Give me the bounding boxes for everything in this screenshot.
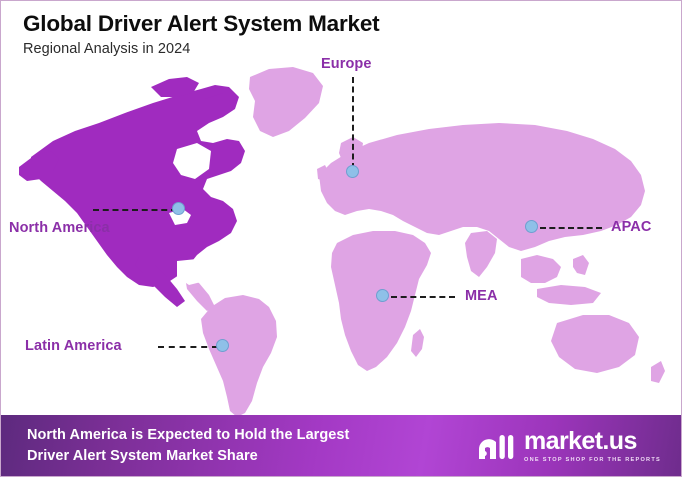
marker-mea [376,289,389,302]
connector-latin-america [158,346,218,348]
map-region-southeast-asia [521,255,561,283]
connector-mea [391,296,455,298]
map-region-india [465,231,497,277]
map-region-australia [551,315,639,373]
page-title: Global Driver Alert System Market [23,11,379,36]
marker-north-america [172,202,185,215]
banner-headline-line1: North America is Expected to Hold the La… [27,425,349,446]
map-water-gulf-mexico [177,259,209,285]
logo-tagline: ONE STOP SHOP FOR THE REPORTS [524,457,661,463]
connector-apac [540,227,602,229]
region-label-europe: Europe [321,56,372,72]
connector-north-america [93,209,177,211]
map-regions-base [185,67,665,417]
region-label-north-america: North America [9,220,110,236]
map-region-greenland [249,67,323,137]
marker-apac [525,220,538,233]
map-region-new-zealand [651,361,665,383]
banner-headline-line2: Driver Alert System Market Share [27,446,349,467]
region-label-latin-america: Latin America [25,338,122,354]
map-region-philippines [573,255,589,275]
map-region-indonesia [537,285,601,305]
region-label-mea: MEA [465,288,498,304]
map-region-north-america [31,85,245,287]
logo-text-block: market.us ONE STOP SHOP FOR THE REPORTS [524,429,661,463]
logo-wordmark: market.us [524,429,661,454]
map-region-madagascar [411,329,424,357]
page-subtitle: Regional Analysis in 2024 [23,41,379,57]
banner-headline: North America is Expected to Hold the La… [27,425,349,466]
marker-europe [346,165,359,178]
header: Global Driver Alert System Market Region… [23,11,379,57]
map-region-south-america [201,295,277,417]
connector-europe [352,77,354,169]
marker-latin-america [216,339,229,352]
region-label-apac: APAC [611,219,651,235]
infographic-canvas: Global Driver Alert System Market Region… [0,0,682,477]
bottom-banner: North America is Expected to Hold the La… [1,415,682,476]
market-us-logo[interactable]: market.us ONE STOP SHOP FOR THE REPORTS [475,429,661,463]
map-regions-highlighted [19,77,245,307]
logo-mark-icon [475,429,515,463]
